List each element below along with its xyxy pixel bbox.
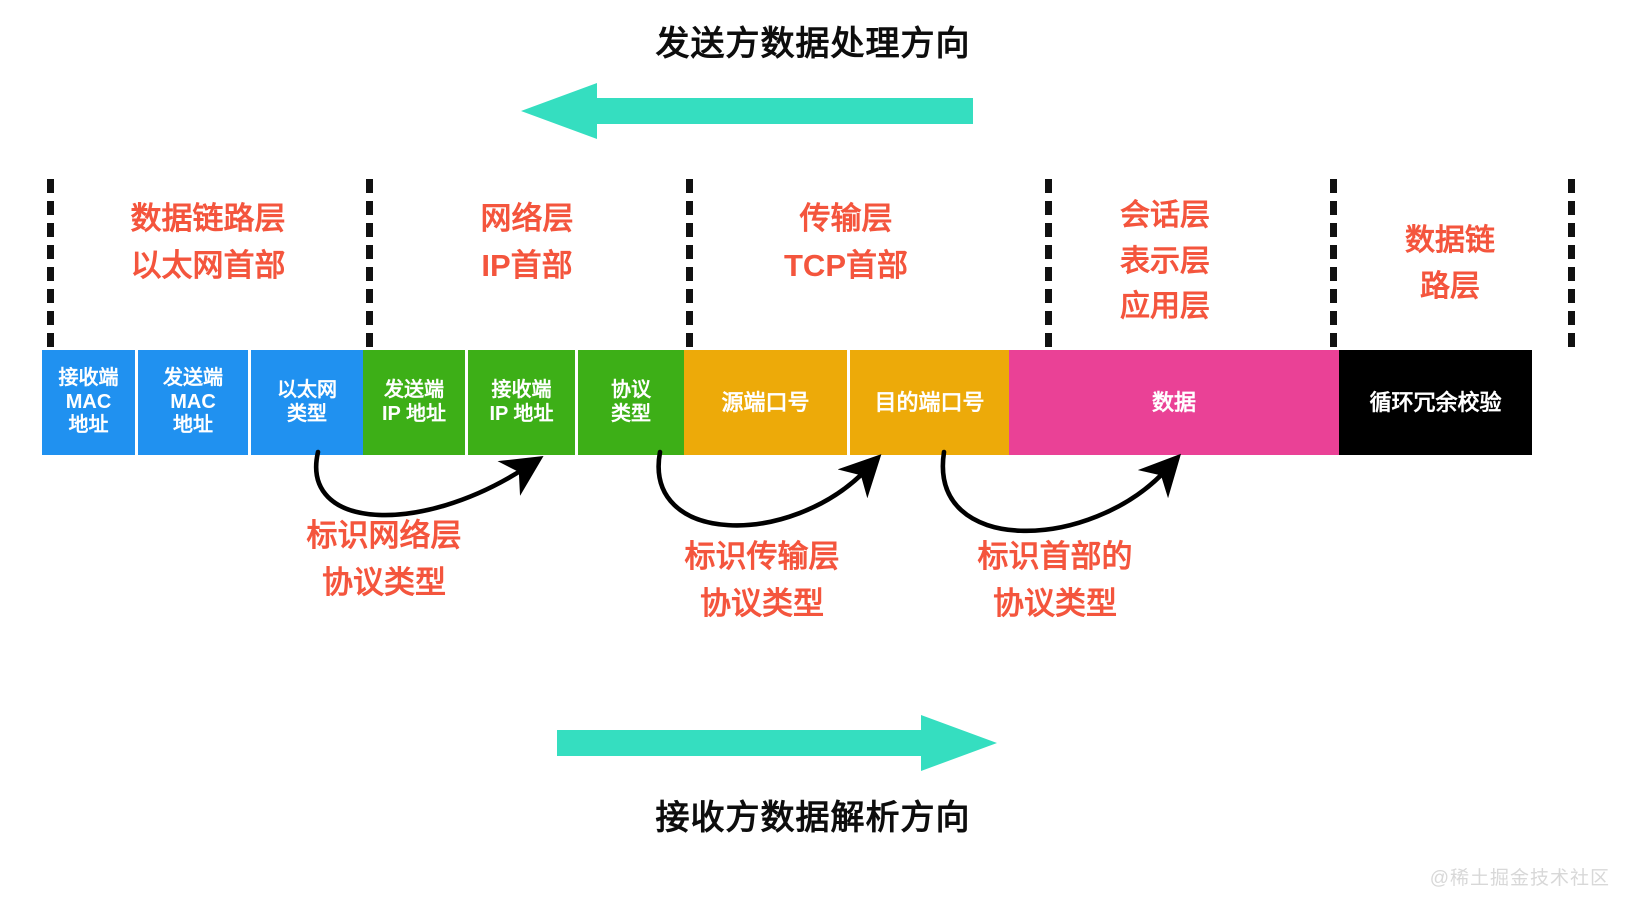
annotation-identify-network-layer: 标识网络层协议类型 bbox=[224, 512, 544, 606]
field-label-line: 循环冗余校验 bbox=[1369, 390, 1501, 416]
sender-direction-title: 发送方数据处理方向 bbox=[0, 16, 1626, 65]
caption-line: 会话层 bbox=[1045, 193, 1285, 239]
watermark: @稀土掘金技术社区 bbox=[1430, 863, 1610, 890]
annotation-identify-transport-layer: 标识传输层协议类型 bbox=[602, 533, 922, 627]
caption-line: 数据链路层 bbox=[47, 195, 369, 242]
curve-port-to-data bbox=[943, 452, 1166, 531]
arrow-right-icon bbox=[557, 715, 997, 771]
osi-encapsulation-diagram: 发送方数据处理方向 数据链路层以太网首部网络层IP首部传输层TCP首部会话层表示… bbox=[0, 0, 1626, 902]
annotation-line: 标识传输层 bbox=[602, 533, 922, 580]
annotation-line: 协议类型 bbox=[224, 559, 544, 606]
field-label-line: 协议 bbox=[611, 379, 651, 403]
caption-line: IP首部 bbox=[369, 242, 685, 289]
layer-caption-network-header: 网络层IP首部 bbox=[369, 195, 685, 289]
frame-field-src-ip: 发送端IP 地址 bbox=[363, 350, 468, 455]
layer-caption-transport-header: 传输层TCP首部 bbox=[685, 195, 1007, 289]
frame-field-dest-port: 目的端口号 bbox=[850, 350, 1009, 455]
field-label-line: 接收端 bbox=[59, 367, 119, 391]
field-label-line: 地址 bbox=[69, 414, 109, 438]
layer-caption-upper-layers: 会话层表示层应用层 bbox=[1045, 193, 1285, 330]
annotation-line: 标识首部的 bbox=[895, 533, 1215, 580]
layer-caption-data-link-header: 数据链路层以太网首部 bbox=[47, 195, 369, 289]
frame-field-dest-mac: 接收端MAC地址 bbox=[42, 350, 138, 455]
frame-field-payload: 数据 bbox=[1009, 350, 1339, 455]
field-label-line: 发送端 bbox=[163, 367, 223, 391]
caption-line: 路层 bbox=[1330, 264, 1570, 310]
frame-field-src-mac: 发送端MAC地址 bbox=[138, 350, 251, 455]
annotation-identify-header-protocol: 标识首部的协议类型 bbox=[895, 533, 1215, 627]
field-label-line: 接收端 bbox=[492, 379, 552, 403]
field-label-line: MAC bbox=[66, 391, 112, 415]
field-label-line: 类型 bbox=[611, 403, 651, 427]
arrow-left-icon bbox=[521, 83, 973, 139]
frame-field-protocol-type: 协议类型 bbox=[578, 350, 684, 455]
frame-field-crc: 循环冗余校验 bbox=[1339, 350, 1532, 455]
caption-line: 传输层 bbox=[685, 195, 1007, 242]
annotation-line: 协议类型 bbox=[602, 580, 922, 627]
caption-line: 以太网首部 bbox=[47, 242, 369, 289]
field-label-line: IP 地址 bbox=[489, 403, 553, 427]
field-label-line: 目的端口号 bbox=[874, 390, 984, 416]
caption-line: 应用层 bbox=[1045, 284, 1285, 330]
caption-line: 表示层 bbox=[1045, 239, 1285, 285]
protocol-frame-bar: 接收端MAC地址发送端MAC地址以太网类型发送端IP 地址接收端IP 地址协议类… bbox=[42, 350, 1532, 455]
field-label-line: 以太网 bbox=[277, 379, 337, 403]
frame-field-ether-type: 以太网类型 bbox=[251, 350, 363, 455]
field-label-line: 类型 bbox=[287, 403, 327, 427]
receiver-direction-title: 接收方数据解析方向 bbox=[0, 790, 1626, 839]
field-label-line: 源端口号 bbox=[721, 390, 809, 416]
field-label-line: IP 地址 bbox=[382, 403, 446, 427]
annotation-line: 协议类型 bbox=[895, 580, 1215, 627]
field-label-line: 数据 bbox=[1152, 390, 1196, 416]
field-label-line: 地址 bbox=[173, 414, 213, 438]
caption-line: 数据链 bbox=[1330, 218, 1570, 264]
curve-ethertype-to-ip bbox=[316, 452, 525, 515]
caption-line: 网络层 bbox=[369, 195, 685, 242]
layer-caption-data-link-trailer: 数据链路层 bbox=[1330, 218, 1570, 309]
annotation-line: 标识网络层 bbox=[224, 512, 544, 559]
field-label-line: MAC bbox=[170, 391, 216, 415]
frame-field-src-port: 源端口号 bbox=[684, 350, 850, 455]
curve-protocol-to-port bbox=[659, 452, 866, 525]
caption-line: TCP首部 bbox=[685, 242, 1007, 289]
frame-field-dest-ip: 接收端IP 地址 bbox=[468, 350, 578, 455]
field-label-line: 发送端 bbox=[384, 379, 444, 403]
